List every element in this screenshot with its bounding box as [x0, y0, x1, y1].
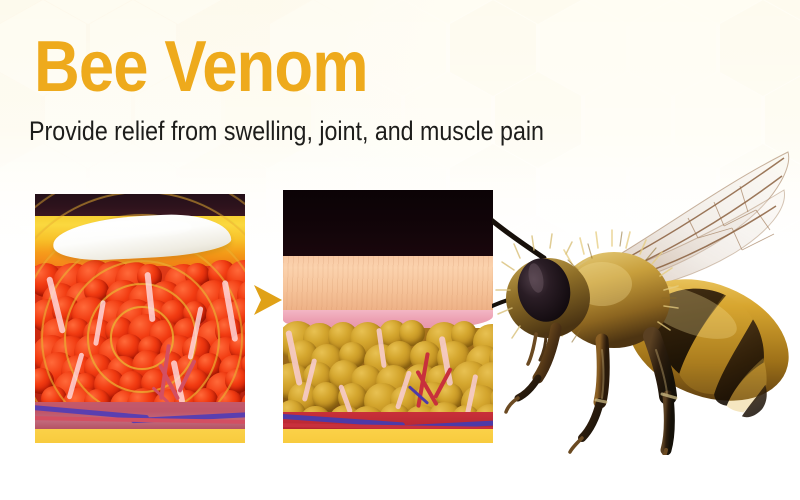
panel-healthy-skin	[283, 190, 493, 443]
arrow-right-triangle-icon	[252, 283, 284, 317]
panel2-surface-shadow	[283, 190, 493, 256]
panel-inflamed-skin	[35, 194, 245, 443]
poster-canvas: Bee Venom Provide relief from swelling, …	[0, 0, 800, 500]
panel2-fat-layer	[283, 328, 493, 415]
panel2-blood-vessels	[283, 412, 493, 430]
honeybee-photo	[492, 150, 800, 455]
panel1-base-strip	[35, 429, 245, 443]
panel1-inflamed-dermis	[35, 266, 245, 402]
panel1-muscle-layer	[35, 402, 245, 429]
page-title: Bee Venom	[34, 31, 368, 103]
panel2-epidermis-texture	[283, 256, 493, 310]
panel2-base-strip	[283, 429, 493, 443]
page-subtitle: Provide relief from swelling, joint, and…	[29, 116, 544, 146]
